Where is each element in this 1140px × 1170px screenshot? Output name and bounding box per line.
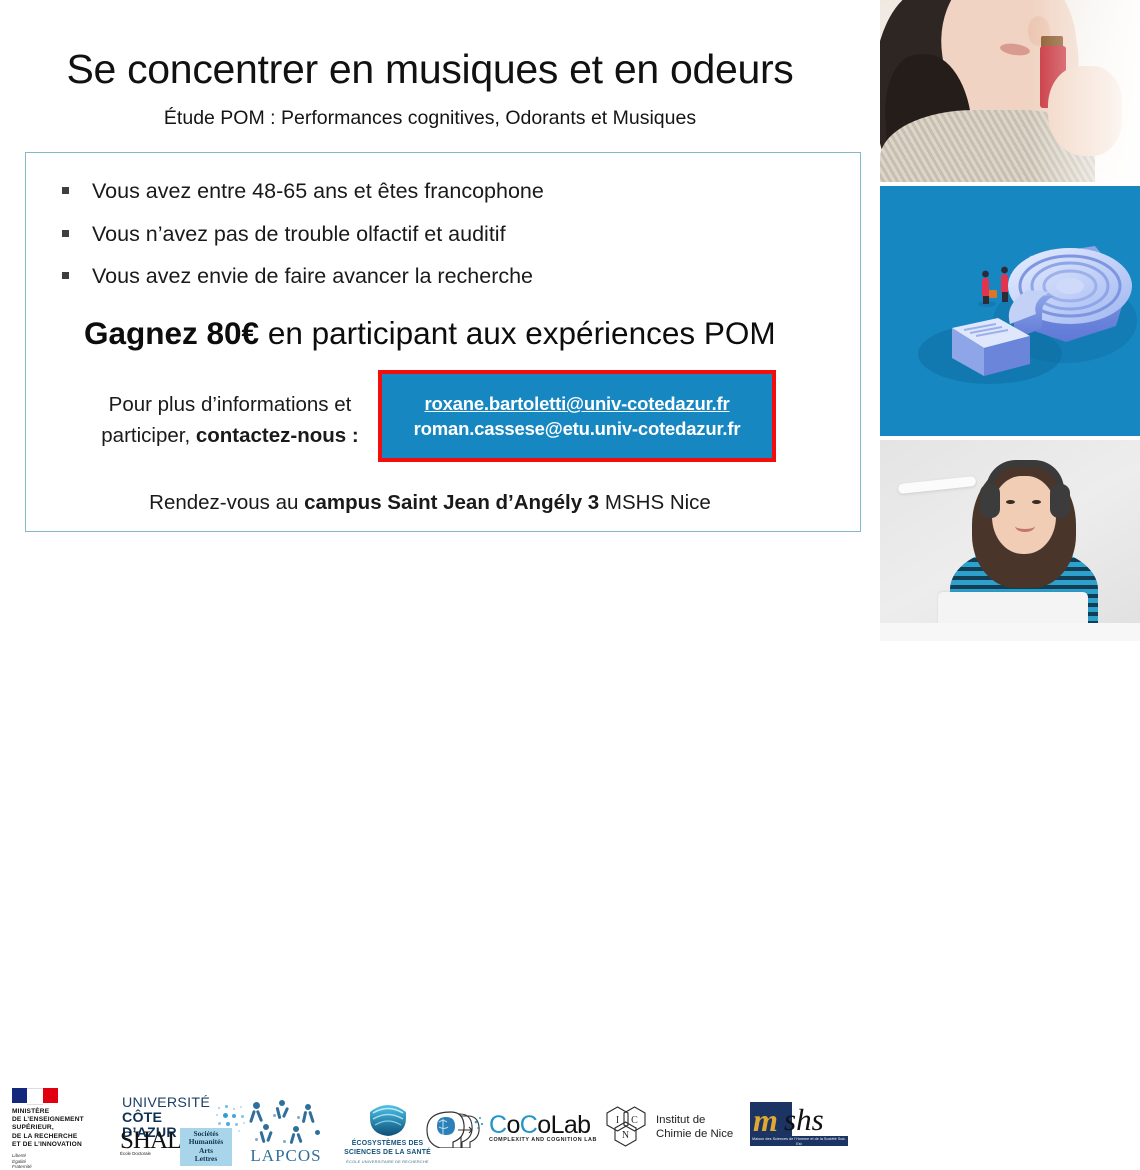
- lapcos-figures-icon: [249, 1098, 323, 1146]
- contact-line-2-bold: contactez-nous :: [196, 424, 359, 447]
- reward-rest: en participant aux expériences POM: [259, 315, 776, 351]
- list-item: Vous avez envie de faire avancer la rech…: [62, 261, 762, 291]
- ministry-line-4: DE LA RECHERCHE: [12, 1133, 112, 1141]
- reward-headline: Gagnez 80€ en participant aux expérience…: [84, 312, 776, 354]
- logo-mshs: m shs Maison des Sciences de l’Homme et …: [750, 1102, 850, 1142]
- cocolab-o1: o: [506, 1111, 519, 1139]
- eco-line-1: ÉCOSYSTÈMES DES: [340, 1140, 435, 1149]
- list-item-label: Vous avez entre 48-65 ans et êtes franco…: [92, 176, 544, 206]
- water-wave-bowl-icon: [364, 1100, 412, 1138]
- square-bullet-icon: [62, 187, 69, 194]
- contact-line-2-plain: participer,: [101, 424, 196, 447]
- shal-word-societes: Sociétés: [180, 1130, 232, 1138]
- contact-email-box[interactable]: roxane.bartoletti@univ-cotedazur.fr roma…: [378, 370, 776, 462]
- eco-line-2: SCIENCES DE LA SANTÉ: [340, 1149, 435, 1158]
- list-item-label: Vous n’avez pas de trouble olfactif et a…: [92, 219, 506, 249]
- shal-word-arts: Arts: [180, 1147, 232, 1155]
- icn-line-1: Institut de: [656, 1113, 733, 1127]
- page-subtitle: Étude POM : Performances cognitives, Odo…: [0, 105, 860, 131]
- venue-prefix: Rendez-vous au: [149, 491, 304, 514]
- cocolab-wordmark: CoCoLab: [489, 1113, 597, 1138]
- email-link-primary[interactable]: roxane.bartoletti@univ-cotedazur.fr: [424, 391, 729, 416]
- ministry-devise: Liberté Égalité Fraternité: [12, 1153, 112, 1170]
- venue-place: campus Saint Jean d’Angély 3: [304, 491, 599, 514]
- partner-logo-strip: MINISTÈRE DE L’ENSEIGNEMENT SUPÉRIEUR, D…: [0, 540, 860, 641]
- logo-institut-chimie-nice: I C N: [606, 1106, 746, 1148]
- illustration-maze-question-mark: [880, 186, 1140, 436]
- french-flag-icon: [12, 1088, 58, 1103]
- ministry-line-1: MINISTÈRE: [12, 1108, 112, 1116]
- shal-word-lettres: Lettres: [180, 1155, 232, 1163]
- ministry-line-3: SUPÉRIEUR,: [12, 1124, 112, 1132]
- cocolab-o2: o: [537, 1111, 550, 1139]
- contact-line-1: Pour plus d’informations et: [109, 393, 352, 416]
- email-link-secondary[interactable]: roman.cassese@etu.univ-cotedazur.fr: [414, 416, 741, 441]
- svg-text:N: N: [622, 1130, 629, 1141]
- shal-word-humanites: Humanités: [180, 1138, 232, 1146]
- icn-line-2: Chimie de Nice: [656, 1127, 733, 1141]
- list-item: Vous avez entre 48-65 ans et êtes franco…: [62, 176, 762, 206]
- cocolab-lab: Lab: [551, 1111, 591, 1139]
- eco-subline: ÉCOLE UNIVERSITAIRE DE RECHERCHE: [340, 1159, 435, 1164]
- cocolab-c2: C: [520, 1111, 537, 1139]
- logo-ministry: MINISTÈRE DE L’ENSEIGNEMENT SUPÉRIEUR, D…: [12, 1088, 112, 1170]
- mshs-letters-shs: shs: [784, 1102, 824, 1138]
- poster-right-column: [860, 0, 1140, 641]
- logo-lapcos: LAPCOS: [240, 1098, 332, 1165]
- list-item-label: Vous avez envie de faire avancer la rech…: [92, 261, 533, 291]
- reward-amount: Gagnez 80€: [84, 315, 259, 351]
- list-item: Vous n’avez pas de trouble olfactif et a…: [62, 219, 762, 249]
- poster-left-column: Se concentrer en musiques et en odeurs É…: [0, 0, 860, 641]
- cocolab-c1: C: [489, 1111, 506, 1139]
- devise-fraternite: Fraternité: [12, 1164, 112, 1170]
- logo-cocolab: CoCoLab COMPLEXITY AND COGNITION LAB: [424, 1108, 602, 1148]
- ministry-line-2: DE L’ENSEIGNEMENT: [12, 1116, 112, 1124]
- brain-heads-icon: [424, 1108, 486, 1148]
- logo-shal-ecole-doctorale: SHAL École Doctorale Sociétés Humanités …: [120, 1128, 232, 1168]
- page-title: Se concentrer en musiques et en odeurs: [0, 44, 860, 94]
- shal-words: Sociétés Humanités Arts Lettres: [180, 1128, 232, 1166]
- photo-woman-headphones-laptop: [880, 440, 1140, 641]
- logo-ecosystemes-sciences-sante: ÉCOSYSTÈMES DES SCIENCES DE LA SANTÉ ÉCO…: [340, 1100, 435, 1164]
- contact-label: Pour plus d’informations et participer, …: [80, 389, 380, 451]
- lapcos-label: LAPCOS: [240, 1147, 332, 1165]
- criteria-list: Vous avez entre 48-65 ans et êtes franco…: [62, 176, 762, 304]
- ministry-line-5: ET DE L’INNOVATION: [12, 1141, 112, 1149]
- venue-line: Rendez-vous au campus Saint Jean d’Angél…: [0, 488, 860, 518]
- mshs-subline: Maison des Sciences de l’Homme et de la …: [750, 1136, 848, 1146]
- icn-hexagons-icon: I C N: [606, 1106, 652, 1148]
- uca-line-1: UNIVERSITÉ: [122, 1096, 210, 1111]
- cocolab-subline: COMPLEXITY AND COGNITION LAB: [489, 1137, 597, 1144]
- photo-woman-smelling-oil: [880, 0, 1140, 182]
- isometric-maze-svg: [880, 186, 1140, 436]
- square-bullet-icon: [62, 230, 69, 237]
- square-bullet-icon: [62, 272, 69, 279]
- mshs-letter-m: m: [753, 1103, 778, 1137]
- poster-root: Se concentrer en musiques et en odeurs É…: [0, 0, 1140, 641]
- venue-suffix: MSHS Nice: [599, 491, 711, 514]
